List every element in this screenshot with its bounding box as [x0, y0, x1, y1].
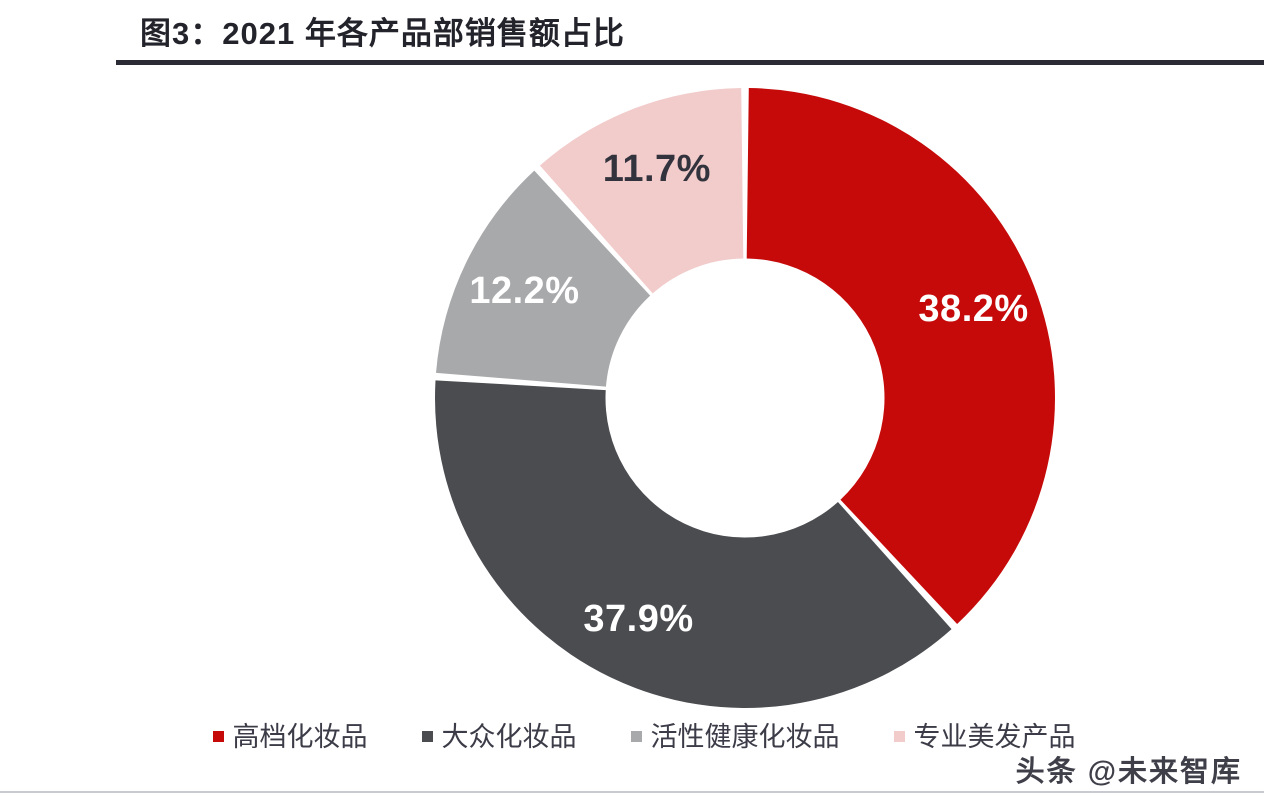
legend-item-label: 高档化妆品 — [233, 715, 368, 754]
legend-item-label: 活性健康化妆品 — [651, 715, 840, 754]
donut-slices — [435, 88, 1055, 708]
title-block: 图3：2021 年各产品部销售额占比 — [0, 0, 1264, 72]
legend-marker-icon — [631, 731, 642, 742]
watermark: 头条 @未来智库 — [1016, 748, 1242, 790]
slice-percentage-label: 37.9% — [583, 598, 693, 640]
slice-percentage-label: 12.2% — [469, 270, 579, 312]
title-divider — [116, 60, 1264, 65]
legend-item-label: 大众化妆品 — [442, 715, 577, 754]
bottom-divider — [0, 791, 1264, 793]
legend-item[interactable]: 大众化妆品 — [422, 715, 577, 754]
donut-slice — [435, 380, 952, 708]
legend-marker-icon — [213, 731, 224, 742]
donut-chart-svg: 38.2%37.9%12.2%11.7% — [435, 88, 1055, 708]
legend-marker-icon — [422, 731, 433, 742]
slice-percentage-label: 38.2% — [918, 288, 1028, 330]
page-title: 图3：2021 年各产品部销售额占比 — [140, 8, 625, 53]
legend-item[interactable]: 高档化妆品 — [213, 715, 368, 754]
legend-item[interactable]: 活性健康化妆品 — [631, 715, 840, 754]
donut-chart: 38.2%37.9%12.2%11.7% — [435, 88, 1055, 708]
slice-percentage-label: 11.7% — [603, 148, 711, 190]
legend-marker-icon — [894, 731, 905, 742]
